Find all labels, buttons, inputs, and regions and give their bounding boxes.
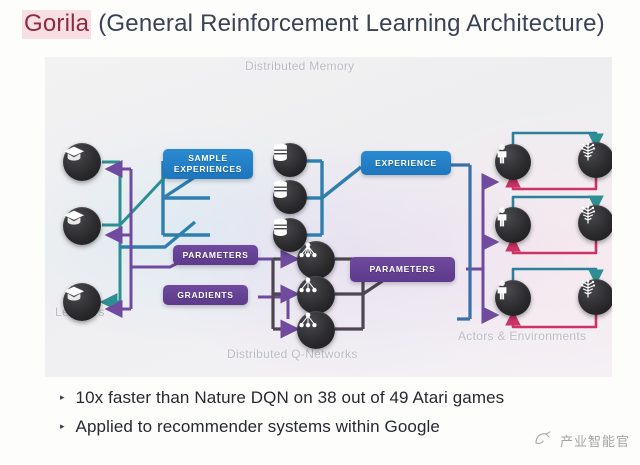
box-parameters-left-label: PARAMETERS <box>183 250 249 261</box>
box-gradients[interactable]: GRADIENTS <box>163 285 248 305</box>
box-parameters-left[interactable]: PARAMETERS <box>173 245 258 265</box>
watermark-logo-icon <box>533 430 553 451</box>
environment-node-1[interactable] <box>578 142 612 178</box>
box-sample-experiences-line1: SAMPLE <box>188 153 228 164</box>
learner-node-2[interactable] <box>63 207 101 245</box>
bullet-list: ▸ 10x faster than Nature DQN on 38 out o… <box>60 388 580 446</box>
architecture-diagram: Distributed Memory Learners Distributed … <box>45 57 612 377</box>
learner-node-1[interactable] <box>63 143 101 181</box>
memory-node-2[interactable] <box>273 180 307 214</box>
title-highlight-word: Gorila <box>22 10 91 39</box>
bullet-text: 10x faster than Nature DQN on 38 out of … <box>76 388 505 408</box>
box-experience[interactable]: EXPERIENCE <box>361 151 451 175</box>
box-gradients-label: GRADIENTS <box>177 290 233 301</box>
box-sample-experiences-line2: EXPERIENCES <box>174 164 242 175</box>
actor-node-1[interactable] <box>495 144 531 180</box>
qnetwork-node-1[interactable] <box>297 241 335 279</box>
box-parameters-right[interactable]: PARAMETERS <box>350 257 455 282</box>
box-parameters-right-label: PARAMETERS <box>370 264 436 275</box>
environment-node-2[interactable] <box>578 205 612 241</box>
list-item: ▸ 10x faster than Nature DQN on 38 out o… <box>60 388 580 408</box>
actor-node-3[interactable] <box>495 280 531 316</box>
watermark: 产业智能官 <box>533 430 630 451</box>
qnetwork-node-2[interactable] <box>297 276 335 314</box>
box-sample-experiences[interactable]: SAMPLE EXPERIENCES <box>163 149 253 179</box>
page-title: Gorila (General Reinforcement Learning A… <box>0 4 640 44</box>
learner-node-3[interactable] <box>63 283 101 321</box>
bullet-marker-icon: ▸ <box>60 422 65 431</box>
memory-node-1[interactable] <box>273 143 307 177</box>
qnetwork-node-3[interactable] <box>297 311 335 349</box>
watermark-text: 产业智能官 <box>560 431 630 450</box>
bullet-text: Applied to recommender systems within Go… <box>76 417 440 437</box>
box-experience-label: EXPERIENCE <box>375 158 437 169</box>
actor-node-2[interactable] <box>495 207 531 243</box>
list-item: ▸ Applied to recommender systems within … <box>60 417 580 437</box>
environment-node-3[interactable] <box>578 279 612 315</box>
bullet-marker-icon: ▸ <box>60 393 65 402</box>
title-rest-text: (General Reinforcement Learning Architec… <box>98 10 605 38</box>
